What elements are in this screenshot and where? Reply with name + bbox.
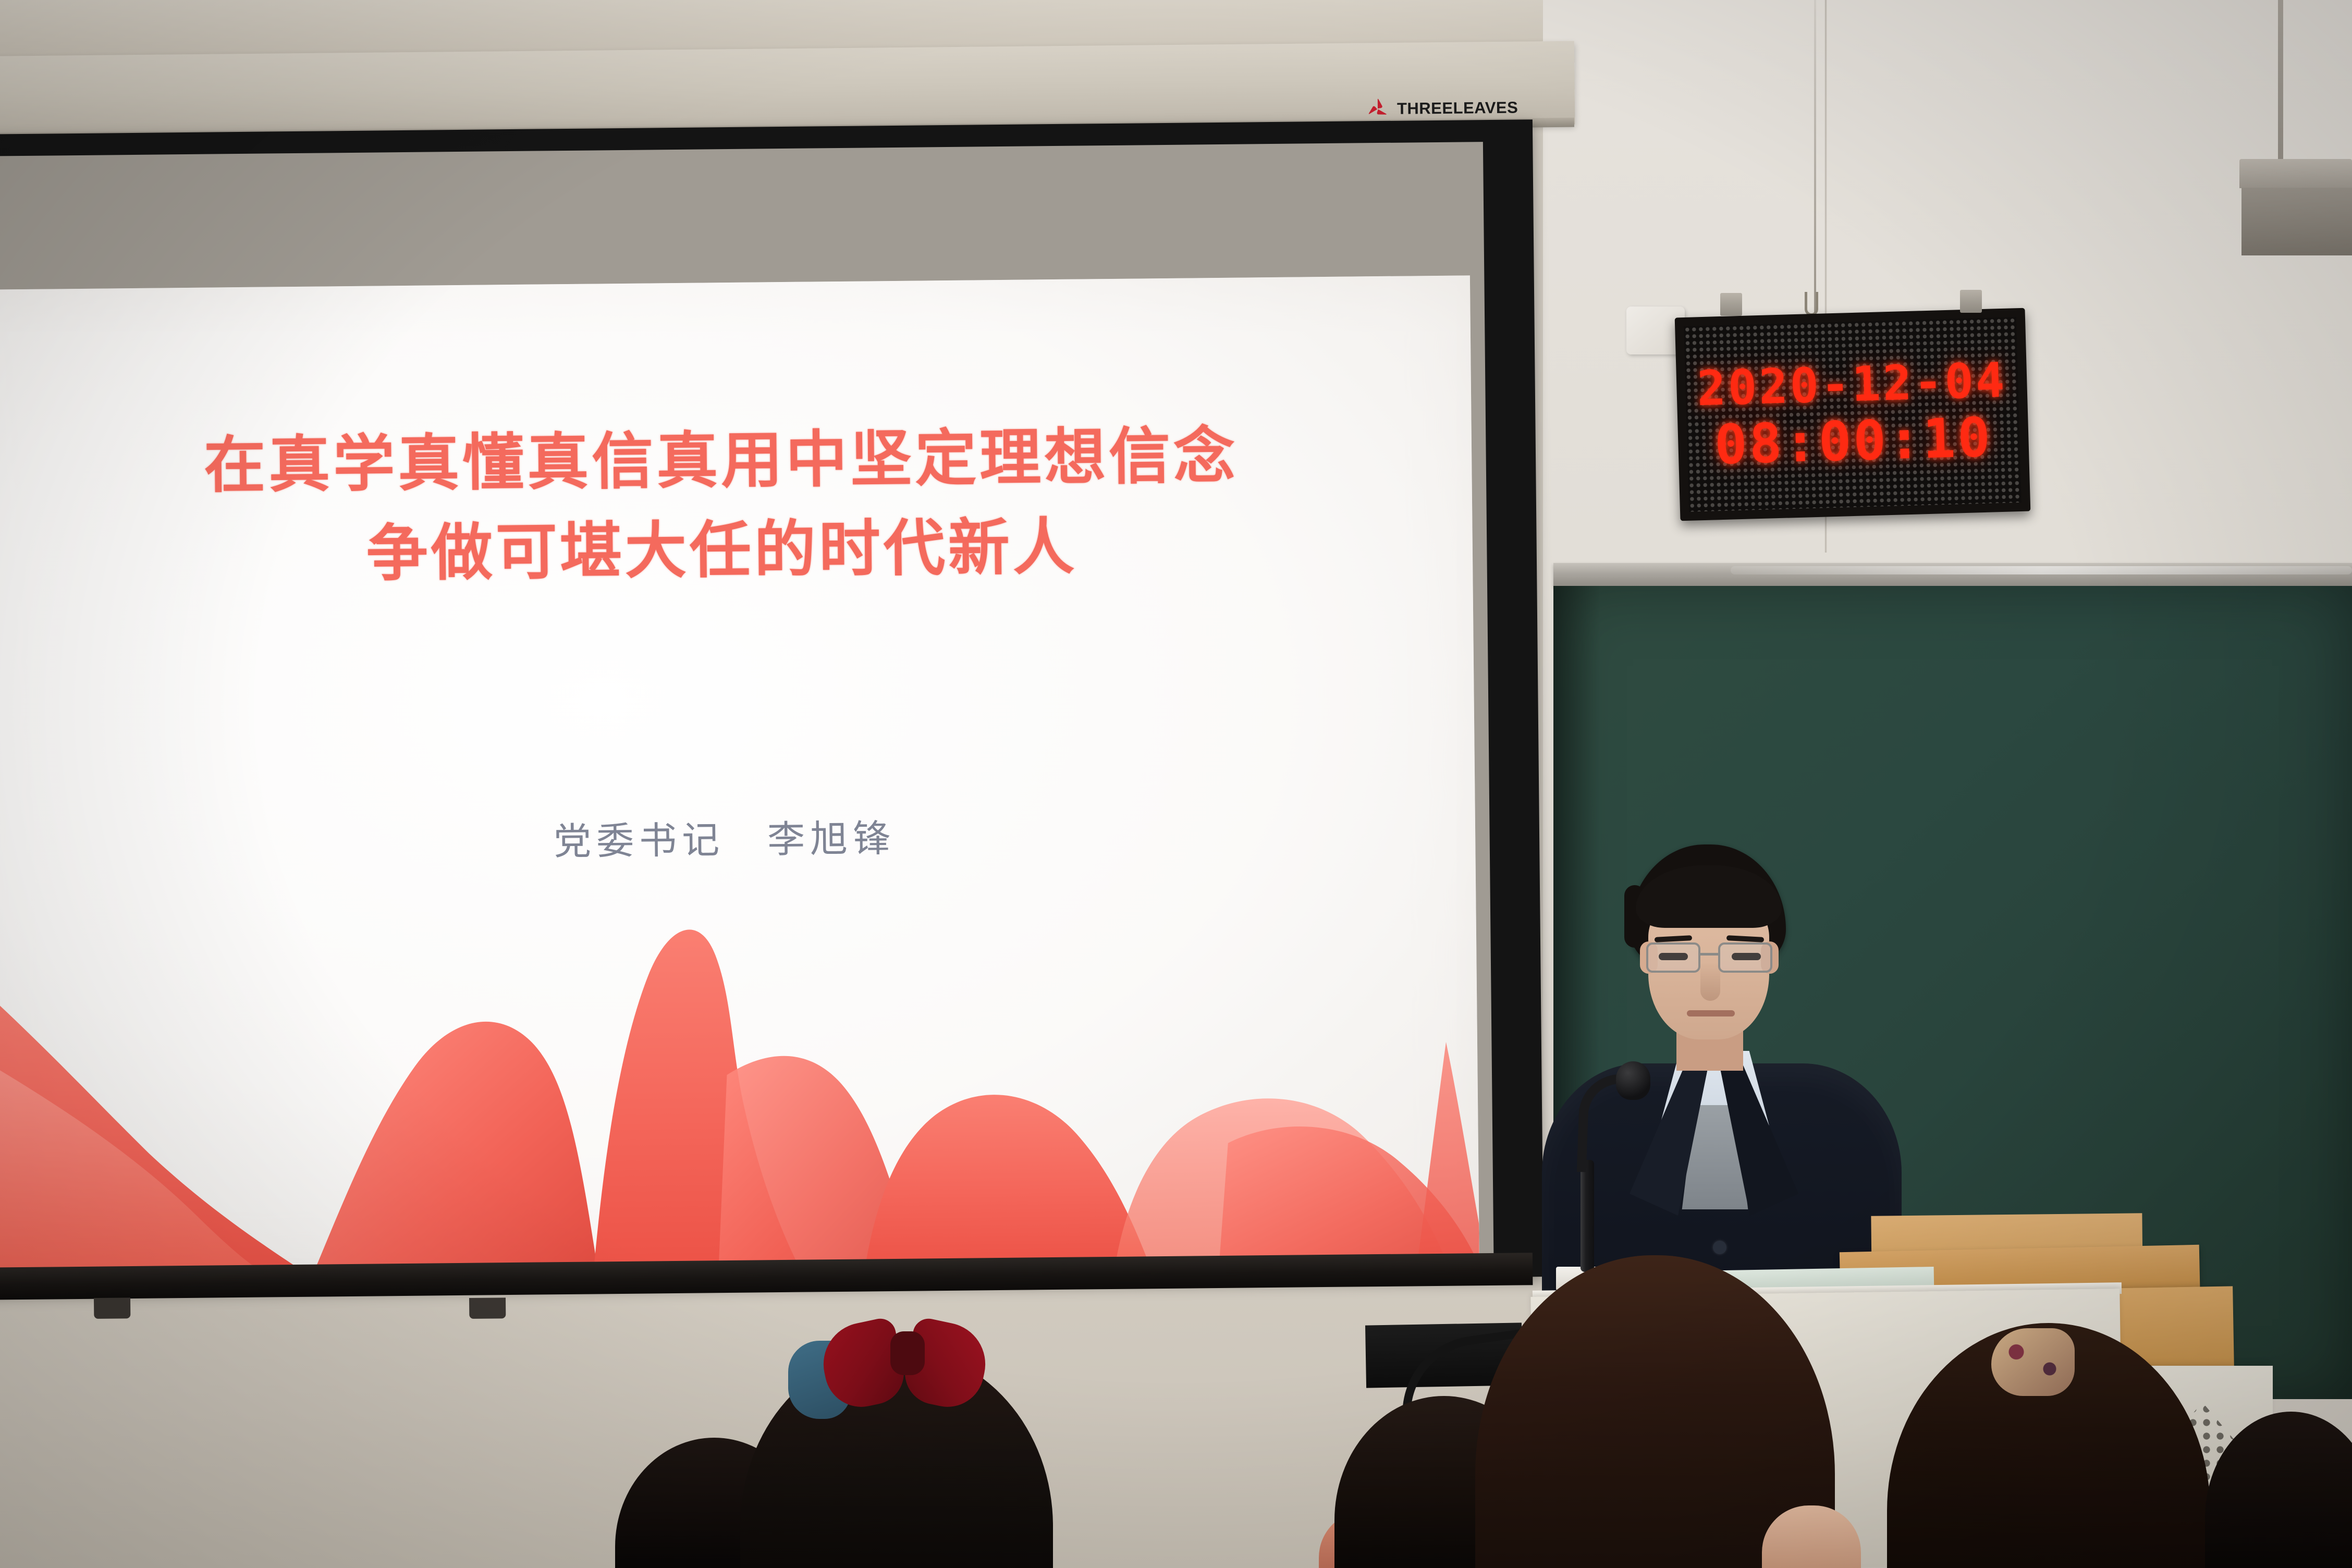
presenter-mouth (1687, 1010, 1735, 1016)
eyeglass-lens-right (1718, 942, 1772, 973)
slide-title-line2: 争做可堪大任的时代新人 (0, 498, 1473, 603)
fixture-cap (2239, 159, 2352, 188)
presenter-coat-button (1713, 1241, 1726, 1254)
ceiling-hook-icon (1805, 292, 1818, 316)
screen-weight-tab (469, 1297, 506, 1319)
bow-knot (890, 1331, 925, 1375)
screen-weight-tab (94, 1297, 130, 1319)
brand-label: THREELEAVES (1397, 99, 1518, 118)
led-time: 08:00:10 (1714, 410, 1993, 472)
eyeglass-bridge (1700, 953, 1718, 955)
led-clock-panel: 2020-12-04 08:00:10 (1675, 308, 2031, 521)
patterned-scrunchie (1991, 1328, 2075, 1396)
slide-title: 在真学真懂真信真用中坚定理想信念 争做可堪大任的时代新人 (0, 408, 1473, 602)
chalkboard-rail-gloss (1731, 566, 2352, 574)
eyeglass-lens-left (1646, 942, 1700, 973)
led-panel-wire (1814, 0, 1816, 313)
three-leaf-icon (1366, 97, 1390, 121)
fixture-rod (2278, 0, 2283, 162)
slide-title-line1: 在真学真懂真信真用中坚定理想信念 (204, 419, 1239, 501)
red-hair-bow (824, 1318, 990, 1412)
slide-speaker-line: 党委书记 李旭锋 (0, 802, 1476, 871)
audience-hair (2205, 1412, 2352, 1568)
led-bracket (1960, 290, 1982, 313)
led-date: 2020-12-04 (1696, 357, 2007, 413)
microphone-head (1616, 1061, 1650, 1100)
presenter-nose (1700, 962, 1720, 1001)
audience-head (2205, 1412, 2352, 1568)
red-ribbon-graphic (0, 869, 1479, 1280)
hanging-light-fixture (2241, 188, 2352, 255)
lecture-hall-photo: THREELEAVES (0, 0, 2352, 1568)
projected-slide: 在真学真懂真信真用中坚定理想信念 争做可堪大任的时代新人 党委书记 李旭锋 (0, 275, 1479, 1280)
led-bracket (1720, 293, 1742, 316)
projector-screen-brand: THREELEAVES (1366, 96, 1518, 121)
led-readout: 2020-12-04 08:00:10 (1684, 317, 2022, 512)
